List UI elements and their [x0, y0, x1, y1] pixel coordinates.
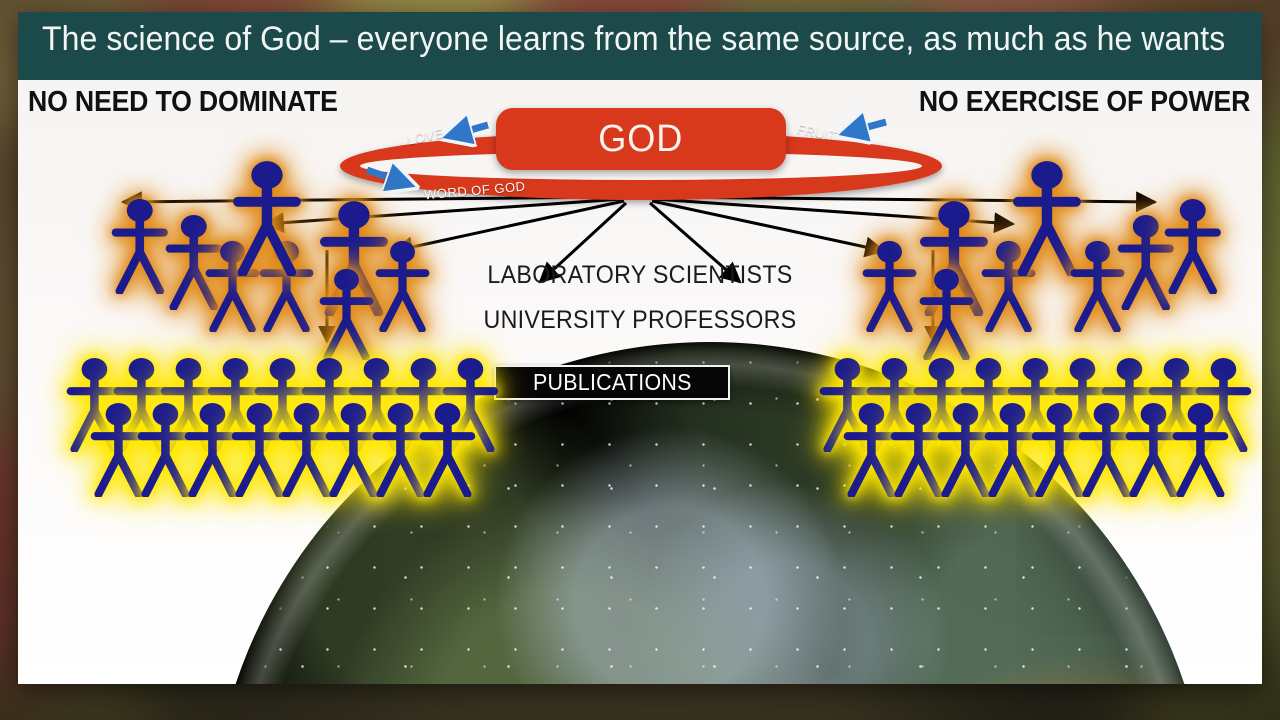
- publications-label: PUBLICATIONS: [533, 369, 692, 396]
- stick-figure-left-upper-orange-group-4: [231, 160, 303, 276]
- love-blue-arrow: [442, 125, 488, 138]
- caption-no-need-to-dominate: NO NEED TO DOMINATE: [28, 86, 338, 119]
- screenshot-root: LOVE FRUIT WORD OF GOD GOD LABORATORY SC…: [0, 0, 1280, 720]
- slide-canvas: LOVE FRUIT WORD OF GOD GOD LABORATORY SC…: [18, 12, 1262, 684]
- caption-no-exercise-of-power: NO EXERCISE OF POWER: [919, 86, 1250, 119]
- fruit-blue-arrow: [838, 122, 886, 135]
- slide-title-bar: The science of God – everyone learns fro…: [18, 12, 1262, 80]
- stick-figure-left-upper-orange-group-6: [318, 268, 375, 360]
- slide-title: The science of God – everyone learns fro…: [42, 20, 1225, 59]
- stick-figure-left-upper-orange-group-7: [374, 240, 431, 332]
- stick-figure-right-upper-orange-group-0: [861, 240, 918, 332]
- left-yellow-crowd-front-7: [418, 402, 477, 497]
- presentation-slide: LOVE FRUIT WORD OF GOD GOD LABORATORY SC…: [18, 12, 1262, 684]
- god-label-text: GOD: [598, 118, 683, 161]
- god-label-box: GOD: [496, 108, 786, 170]
- stick-figure-left-upper-orange-group-0: [110, 198, 170, 294]
- stick-figure-right-upper-orange-group-7: [1163, 198, 1223, 294]
- publications-box: PUBLICATIONS: [494, 365, 730, 400]
- right-yellow-crowd-front-7: [1171, 402, 1230, 497]
- stick-figure-right-upper-orange-group-2: [918, 268, 975, 360]
